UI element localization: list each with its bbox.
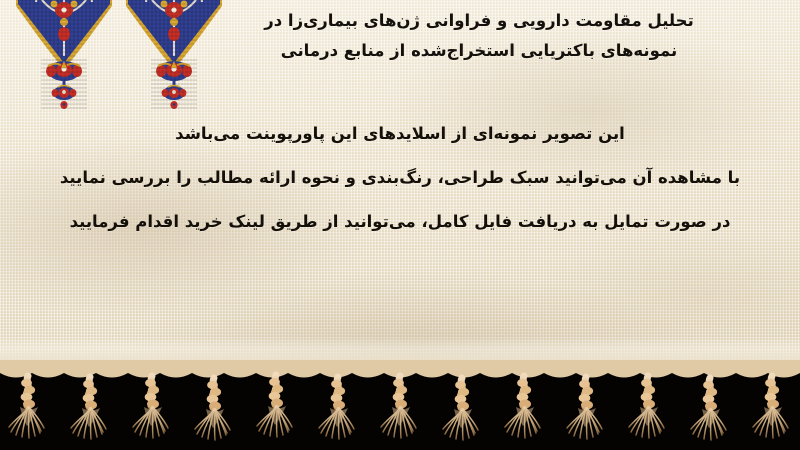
- body-line-3: در صورت تمایل به دریافت فایل کامل، می‌تو…: [36, 200, 764, 244]
- title-line-1: تحلیل مقاومت دارویی و فراوانی ژن‌های بیم…: [214, 6, 744, 36]
- carpet-pendant-motif-left: [41, 58, 87, 114]
- title-line-2: نمونه‌های باکتریایی استخراج‌شده از منابع…: [214, 36, 744, 66]
- slide-body: این تصویر نمونه‌ای از اسلایدهای این پاور…: [36, 112, 764, 244]
- body-line-1: این تصویر نمونه‌ای از اسلایدهای این پاور…: [36, 112, 764, 156]
- carpet-fringe: [0, 360, 800, 450]
- slide-canvas: تحلیل مقاومت دارویی و فراوانی ژن‌های بیم…: [0, 0, 800, 450]
- slide-title: تحلیل مقاومت دارویی و فراوانی ژن‌های بیم…: [214, 6, 744, 66]
- body-line-2: با مشاهده آن می‌توانید سبک طراحی، رنگ‌بن…: [36, 156, 764, 200]
- carpet-pendant-motif-right: [151, 58, 197, 114]
